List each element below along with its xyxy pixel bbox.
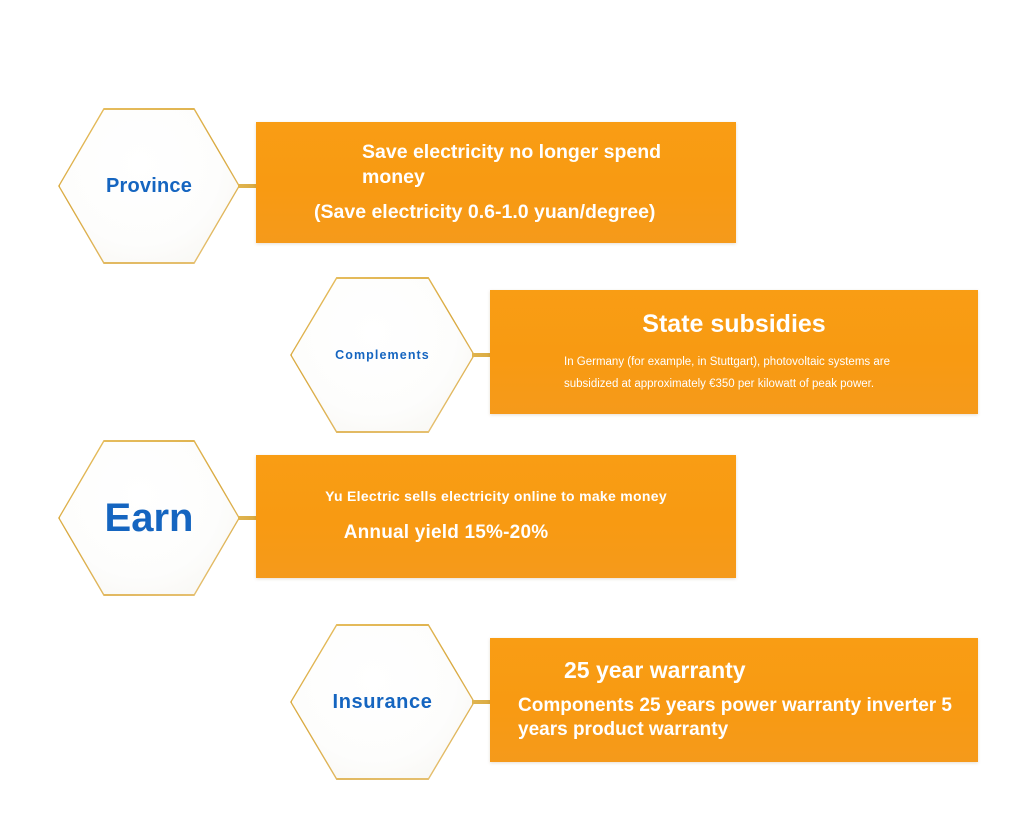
hexagon-province[interactable]: Province bbox=[58, 108, 240, 264]
hexagon-insurance[interactable]: Insurance bbox=[290, 624, 475, 780]
panel-complements[interactable]: State subsidies In Germany (for example,… bbox=[490, 290, 978, 414]
panel-earn[interactable]: Yu Electric sells electricity online to … bbox=[256, 455, 736, 578]
panel-province-headline: Save electricity no longer spend money bbox=[314, 140, 722, 190]
hexagon-label-earn: Earn bbox=[105, 495, 194, 541]
panel-earn-headline: Yu Electric sells electricity online to … bbox=[325, 488, 667, 506]
infographic-canvas: Province Save electricity no longer spen… bbox=[0, 0, 1024, 815]
panel-insurance-headline: 25 year warranty bbox=[518, 657, 960, 685]
panel-earn-yield: Annual yield 15%-20% bbox=[344, 522, 549, 545]
hexagon-earn[interactable]: Earn bbox=[58, 440, 240, 596]
hexagon-label-province: Province bbox=[106, 175, 192, 198]
hexagon-label-complements: Complements bbox=[335, 348, 430, 362]
panel-province-subline: (Save electricity 0.6-1.0 yuan/degree) bbox=[314, 201, 722, 224]
panel-province[interactable]: Save electricity no longer spend money (… bbox=[256, 122, 736, 243]
hexagon-complements[interactable]: Complements bbox=[290, 277, 475, 433]
panel-insurance-description: Components 25 years power warranty inver… bbox=[518, 694, 960, 743]
panel-complements-description: In Germany (for example, in Stuttgart), … bbox=[564, 352, 904, 395]
panel-complements-headline: State subsidies bbox=[642, 309, 825, 339]
panel-insurance[interactable]: 25 year warranty Components 25 years pow… bbox=[490, 638, 978, 762]
hexagon-label-insurance: Insurance bbox=[333, 691, 433, 714]
